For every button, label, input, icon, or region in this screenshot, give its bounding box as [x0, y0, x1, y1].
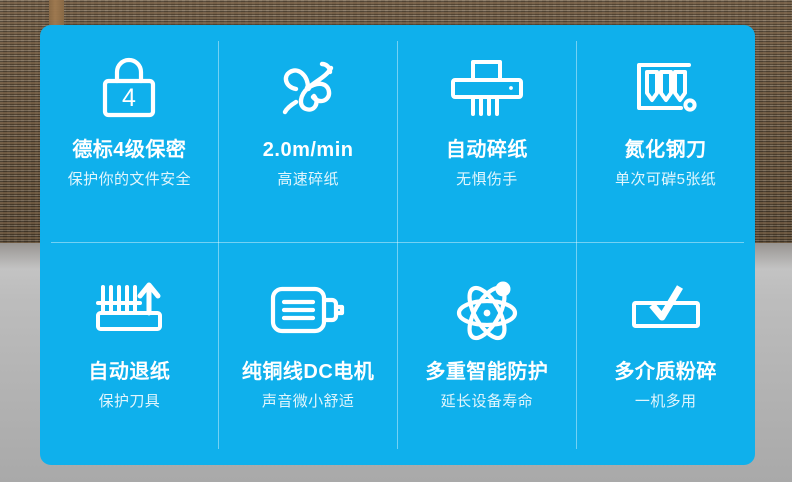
dc-motor-icon: [268, 273, 348, 347]
feature-subtitle: 单次可硸5张纸: [615, 172, 716, 189]
feature-subtitle: 一机多用: [635, 394, 697, 411]
feature-subtitle: 保护刀具: [99, 394, 161, 411]
atom-shield-icon: [451, 273, 523, 347]
feature-title: 纯铜线DC电机: [242, 361, 374, 383]
padlock-4-icon: 4: [98, 51, 160, 125]
feature-subtitle: 保护你的文件安全: [68, 172, 191, 189]
svg-text:4: 4: [122, 84, 136, 112]
feature-cell-motor[interactable]: 纯铜线DC电机 声音微小舒适: [219, 245, 398, 465]
feature-panel: 4 德标4级保密 保护你的文件安全: [40, 25, 755, 465]
paper-eject-arrow-icon: [91, 273, 167, 347]
feature-cell-blades[interactable]: 氮化钢刀 单次可硸5张纸: [576, 25, 755, 245]
paper-shredder-icon: [448, 51, 526, 125]
grid-divider-vertical-1: [218, 41, 219, 449]
feature-title: 2.0m/min: [263, 139, 354, 161]
feature-cell-auto-shred[interactable]: 自动碎纸 无惧伤手: [398, 25, 577, 245]
grid-divider-vertical-2: [397, 41, 398, 449]
feature-subtitle: 无惧伤手: [456, 172, 518, 189]
checkmark-tray-icon: [628, 273, 704, 347]
feature-title: 自动碎纸: [446, 139, 528, 161]
grid-divider-vertical-3: [576, 41, 577, 449]
grid-divider-horizontal: [51, 242, 744, 243]
feature-cell-multimedia[interactable]: 多介质粉碎 一机多用: [576, 245, 755, 465]
pinwheel-fan-icon: [274, 51, 342, 125]
feature-title: 自动退纸: [88, 361, 170, 383]
feature-subtitle: 高速碎纸: [277, 172, 339, 189]
feature-cell-auto-reverse[interactable]: 自动退纸 保护刀具: [40, 245, 219, 465]
feature-title: 德标4级保密: [72, 139, 186, 161]
feature-cell-protection[interactable]: 多重智能防护 延长设备寿命: [398, 245, 577, 465]
feature-title: 氮化钢刀: [625, 139, 707, 161]
feature-cell-speed[interactable]: 2.0m/min 高速碎纸: [219, 25, 398, 245]
feature-cell-security[interactable]: 4 德标4级保密 保护你的文件安全: [40, 25, 219, 245]
feature-subtitle: 延长设备寿命: [441, 394, 533, 411]
screenshot-stage: 4 德标4级保密 保护你的文件安全: [0, 0, 792, 482]
feature-title: 多重智能防护: [425, 361, 548, 383]
feature-title: 多介质粉碎: [614, 361, 717, 383]
feature-subtitle: 声音微小舒适: [262, 394, 354, 411]
steel-blades-icon: [631, 51, 701, 125]
